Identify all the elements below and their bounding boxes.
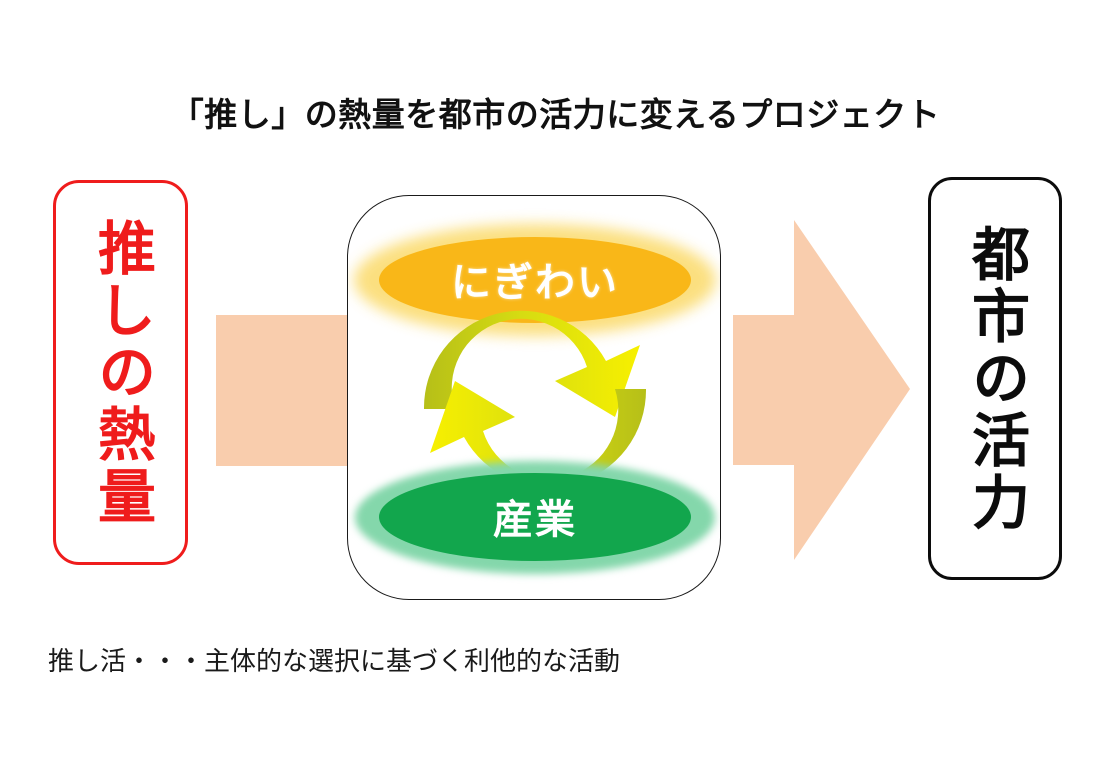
footer-caption: 推し活・・・主体的な選択に基づく利他的な活動 xyxy=(48,641,620,678)
page-title: 「推し」の熱量を都市の活力に変えるプロジェクト xyxy=(0,88,1111,136)
right-outcome-label: 都市の活力 xyxy=(962,224,1028,534)
left-source-box: 推しの熱量 xyxy=(53,180,188,565)
top-ellipse-label: にぎわい xyxy=(451,250,619,308)
right-block-arrow xyxy=(700,215,915,565)
bottom-ellipse: 産業 xyxy=(379,473,691,561)
bottom-ellipse-label: 産業 xyxy=(493,487,577,545)
left-connector-bar xyxy=(216,315,366,466)
slide-canvas: 「推し」の熱量を都市の活力に変えるプロジェクト 推しの熱量 都市の活力 にぎわい xyxy=(0,0,1111,778)
left-source-label: 推しの熱量 xyxy=(88,218,153,528)
right-outcome-box: 都市の活力 xyxy=(928,177,1062,580)
center-cycle-card: にぎわい 産業 xyxy=(347,195,721,600)
